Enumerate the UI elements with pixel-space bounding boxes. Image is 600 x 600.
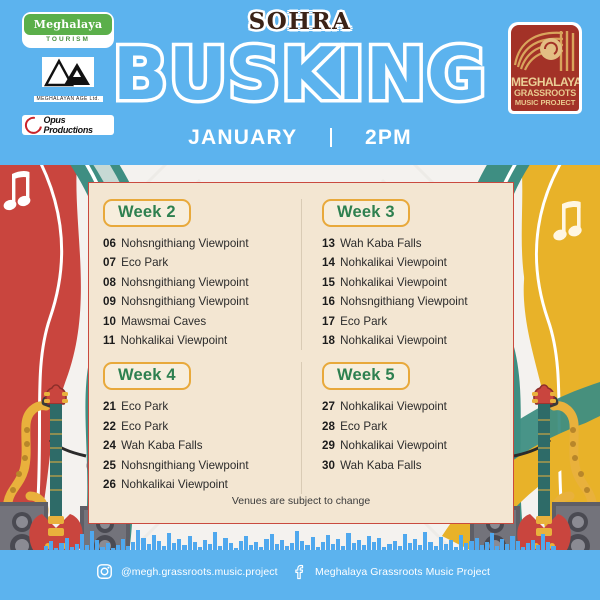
event-venue: Wah Kaba Falls xyxy=(121,439,202,452)
schedule-column-week-3: Week 313 Wah Kaba Falls14 Nohkalikai Vie… xyxy=(301,199,499,350)
schedule-panel: Week 206 Nohsngithiang Viewpoint07 Eco P… xyxy=(88,182,514,524)
event-day: 14 xyxy=(322,256,335,269)
facebook-link[interactable]: Meghalaya Grassroots Music Project xyxy=(290,563,490,580)
schedule-event-row: 22 Eco Park xyxy=(103,417,287,436)
event-venue: Nohkalikai Viewpoint xyxy=(340,276,447,289)
event-day: 22 xyxy=(103,420,116,433)
week-label: Week 3 xyxy=(337,203,395,221)
event-day: 16 xyxy=(322,295,335,308)
event-venue: Nohkalikai Viewpoint xyxy=(340,334,447,347)
schedule-event-row: 15 Nohkalikai Viewpoint xyxy=(322,273,499,292)
event-schedule-line: JANUARY 2PM xyxy=(0,126,600,150)
event-month: JANUARY xyxy=(188,126,297,149)
event-day: 15 xyxy=(322,276,335,289)
schedule-event-row: 14 Nohkalikai Viewpoint xyxy=(322,253,499,272)
event-day: 29 xyxy=(322,439,335,452)
week-badge: Week 2 xyxy=(103,199,191,227)
event-venue: Eco Park xyxy=(121,256,168,269)
schedule-event-row: 16 Nohsngithiang Viewpoint xyxy=(322,292,499,311)
week-badge: Week 4 xyxy=(103,362,191,390)
grassroots-line-3: MUSIC PROJECT xyxy=(511,99,579,107)
week-label: Week 4 xyxy=(118,366,176,384)
instagram-handle: @megh.grassroots.music.project xyxy=(121,566,278,578)
event-venue: Nohkalikai Viewpoint xyxy=(121,334,228,347)
event-day: 21 xyxy=(103,400,116,413)
equalizer-bar xyxy=(213,532,217,552)
schedule-column-week-4: Week 421 Eco Park22 Eco Park24 Wah Kaba … xyxy=(103,362,301,494)
event-venue: Nohsngithiang Viewpoint xyxy=(121,459,248,472)
schedule-event-row: 07 Eco Park xyxy=(103,253,287,272)
event-day: 24 xyxy=(103,439,116,452)
event-day: 28 xyxy=(322,420,335,433)
schedule-event-row: 26 Nohkalikai Viewpoint xyxy=(103,475,287,494)
schedule-column-week-5: Week 527 Nohkalikai Viewpoint28 Eco Park… xyxy=(301,362,499,494)
event-venue: Nohsngithiang Viewpoint xyxy=(340,295,467,308)
event-venue: Wah Kaba Falls xyxy=(340,459,421,472)
schedule-event-row: 29 Nohkalikai Viewpoint xyxy=(322,436,499,455)
equalizer-bar xyxy=(295,531,299,552)
equalizer-bar xyxy=(90,531,94,552)
schedule-event-row: 10 Mawsmai Caves xyxy=(103,312,287,331)
disclaimer-text: Venues are subject to change xyxy=(89,495,513,507)
schedule-event-row: 30 Wah Kaba Falls xyxy=(322,456,499,475)
event-venue: Nohkalikai Viewpoint xyxy=(121,478,228,491)
grassroots-music-project-logo: MEGHALAYA GRASSROOTS MUSIC PROJECT xyxy=(508,22,582,114)
event-venue: Nohkalikai Viewpoint xyxy=(340,439,447,452)
event-venue: Eco Park xyxy=(340,315,387,328)
schedule-event-row: 25 Nohsngithiang Viewpoint xyxy=(103,456,287,475)
event-day: 08 xyxy=(103,276,116,289)
event-day: 25 xyxy=(103,459,116,472)
equalizer-waveform xyxy=(0,518,600,552)
event-venue: Eco Park xyxy=(340,420,387,433)
schedule-event-row: 17 Eco Park xyxy=(322,312,499,331)
week-badge: Week 5 xyxy=(322,362,410,390)
schedule-event-row: 08 Nohsngithiang Viewpoint xyxy=(103,273,287,292)
facebook-icon xyxy=(290,563,307,580)
event-venue: Nohsngithiang Viewpoint xyxy=(121,276,248,289)
equalizer-bar xyxy=(423,532,427,552)
event-day: 26 xyxy=(103,478,116,491)
instagram-icon xyxy=(96,563,113,580)
schedule-grid: Week 206 Nohsngithiang Viewpoint07 Eco P… xyxy=(103,199,499,494)
event-day: 30 xyxy=(322,459,335,472)
event-venue: Nohsngithiang Viewpoint xyxy=(121,237,248,250)
week-label: Week 2 xyxy=(118,203,176,221)
event-venue: Wah Kaba Falls xyxy=(340,237,421,250)
schedule-event-row: 24 Wah Kaba Falls xyxy=(103,436,287,455)
schedule-event-row: 11 Nohkalikai Viewpoint xyxy=(103,331,287,350)
separator-divider xyxy=(330,128,332,147)
schedule-column-week-2: Week 206 Nohsngithiang Viewpoint07 Eco P… xyxy=(103,199,301,350)
event-time: 2PM xyxy=(365,126,412,149)
event-day: 18 xyxy=(322,334,335,347)
poster-footer: @megh.grassroots.music.project Meghalaya… xyxy=(0,550,600,600)
instagram-link[interactable]: @megh.grassroots.music.project xyxy=(96,563,278,580)
busking-poster: Meghalaya TOURISM MEGHALAYAN AGE Ltd. Op… xyxy=(0,0,600,600)
schedule-event-row: 27 Nohkalikai Viewpoint xyxy=(322,397,499,416)
equalizer-bar xyxy=(136,530,140,552)
week-label: Week 5 xyxy=(337,366,395,384)
schedule-event-row: 13 Wah Kaba Falls xyxy=(322,234,499,253)
event-day: 27 xyxy=(322,400,335,413)
event-day: 06 xyxy=(103,237,116,250)
event-day: 10 xyxy=(103,315,116,328)
poster-header: Meghalaya TOURISM MEGHALAYAN AGE Ltd. Op… xyxy=(0,0,600,165)
week-badge: Week 3 xyxy=(322,199,410,227)
event-day: 07 xyxy=(103,256,116,269)
schedule-event-row: 21 Eco Park xyxy=(103,397,287,416)
event-day: 11 xyxy=(103,334,115,347)
event-venue: Nohkalikai Viewpoint xyxy=(340,256,447,269)
event-day: 17 xyxy=(322,315,335,328)
event-venue: Eco Park xyxy=(121,400,168,413)
event-venue: Eco Park xyxy=(121,420,168,433)
event-venue: Nohkalikai Viewpoint xyxy=(340,400,447,413)
facebook-page-name: Meghalaya Grassroots Music Project xyxy=(315,566,490,578)
schedule-event-row: 28 Eco Park xyxy=(322,417,499,436)
schedule-event-row: 09 Nohsngithiang Viewpoint xyxy=(103,292,287,311)
event-venue: Mawsmai Caves xyxy=(121,315,206,328)
event-day: 09 xyxy=(103,295,116,308)
schedule-event-row: 06 Nohsngithiang Viewpoint xyxy=(103,234,287,253)
event-venue: Nohsngithiang Viewpoint xyxy=(121,295,248,308)
event-day: 13 xyxy=(322,237,335,250)
schedule-event-row: 18 Nohkalikai Viewpoint xyxy=(322,331,499,350)
